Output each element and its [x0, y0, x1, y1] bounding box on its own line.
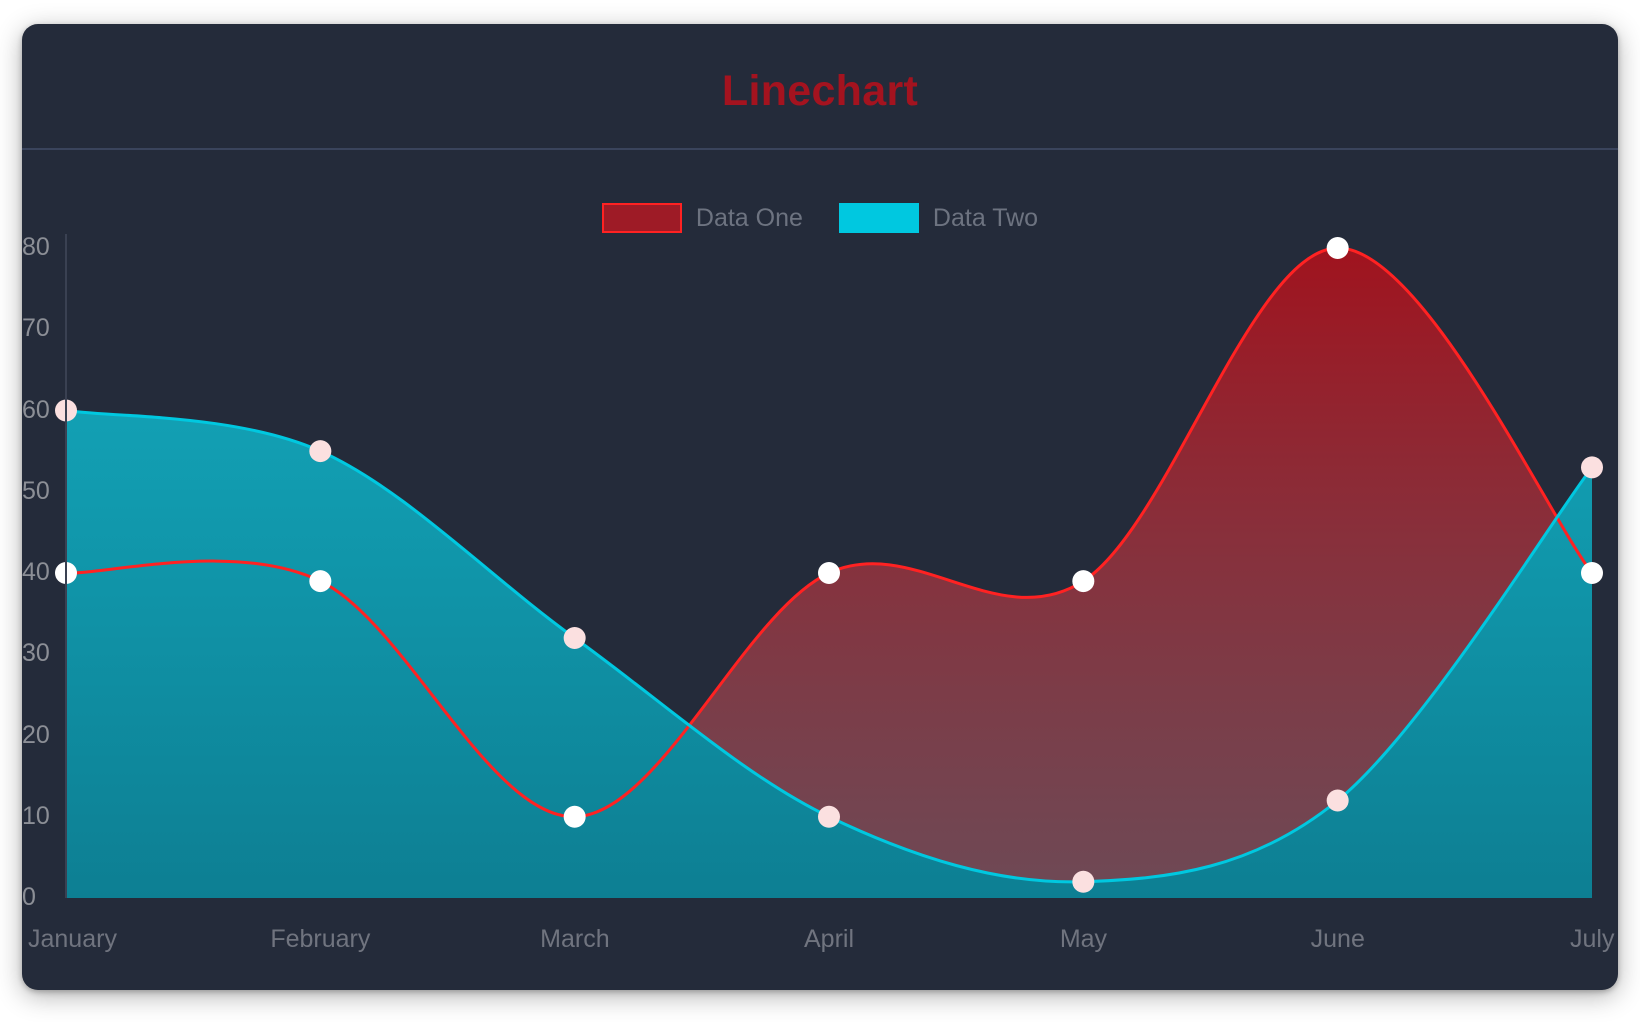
y-axis-tick-label: 80 — [22, 235, 82, 260]
data-point[interactable] — [1327, 790, 1349, 812]
y-axis-tick-label: 0 — [22, 885, 82, 910]
data-point[interactable] — [1072, 570, 1094, 592]
data-point[interactable] — [564, 806, 586, 828]
data-point[interactable] — [309, 570, 331, 592]
x-axis-tick-label: May — [1060, 927, 1107, 952]
x-axis-tick-label: July — [1570, 927, 1614, 952]
data-point[interactable] — [1581, 456, 1603, 478]
app-root: Linechart Data OneData Two 0102030405060… — [0, 0, 1640, 1022]
data-point[interactable] — [1072, 871, 1094, 893]
data-point[interactable] — [818, 806, 840, 828]
y-axis-tick-label: 70 — [22, 316, 82, 341]
x-axis-tick-label: January — [28, 927, 117, 952]
y-axis-tick-label: 30 — [22, 641, 82, 666]
data-point[interactable] — [1581, 562, 1603, 584]
data-point[interactable] — [309, 440, 331, 462]
data-point[interactable] — [818, 562, 840, 584]
x-axis-tick-label: March — [540, 927, 609, 952]
chart-canvas — [22, 24, 1618, 990]
y-axis-tick-label: 20 — [22, 723, 82, 748]
y-axis-tick-label: 40 — [22, 560, 82, 585]
x-axis-tick-label: February — [270, 927, 370, 952]
chart-card: Linechart Data OneData Two 0102030405060… — [22, 24, 1618, 990]
data-point[interactable] — [564, 627, 586, 649]
y-axis-tick-label: 60 — [22, 398, 82, 423]
chart-plot-area[interactable]: 01020304050607080JanuaryFebruaryMarchApr… — [22, 24, 1618, 990]
y-axis-tick-label: 50 — [22, 479, 82, 504]
data-point[interactable] — [1327, 237, 1349, 259]
y-axis-tick-label: 10 — [22, 804, 82, 829]
x-axis-tick-label: June — [1311, 927, 1365, 952]
x-axis-tick-label: April — [804, 927, 854, 952]
